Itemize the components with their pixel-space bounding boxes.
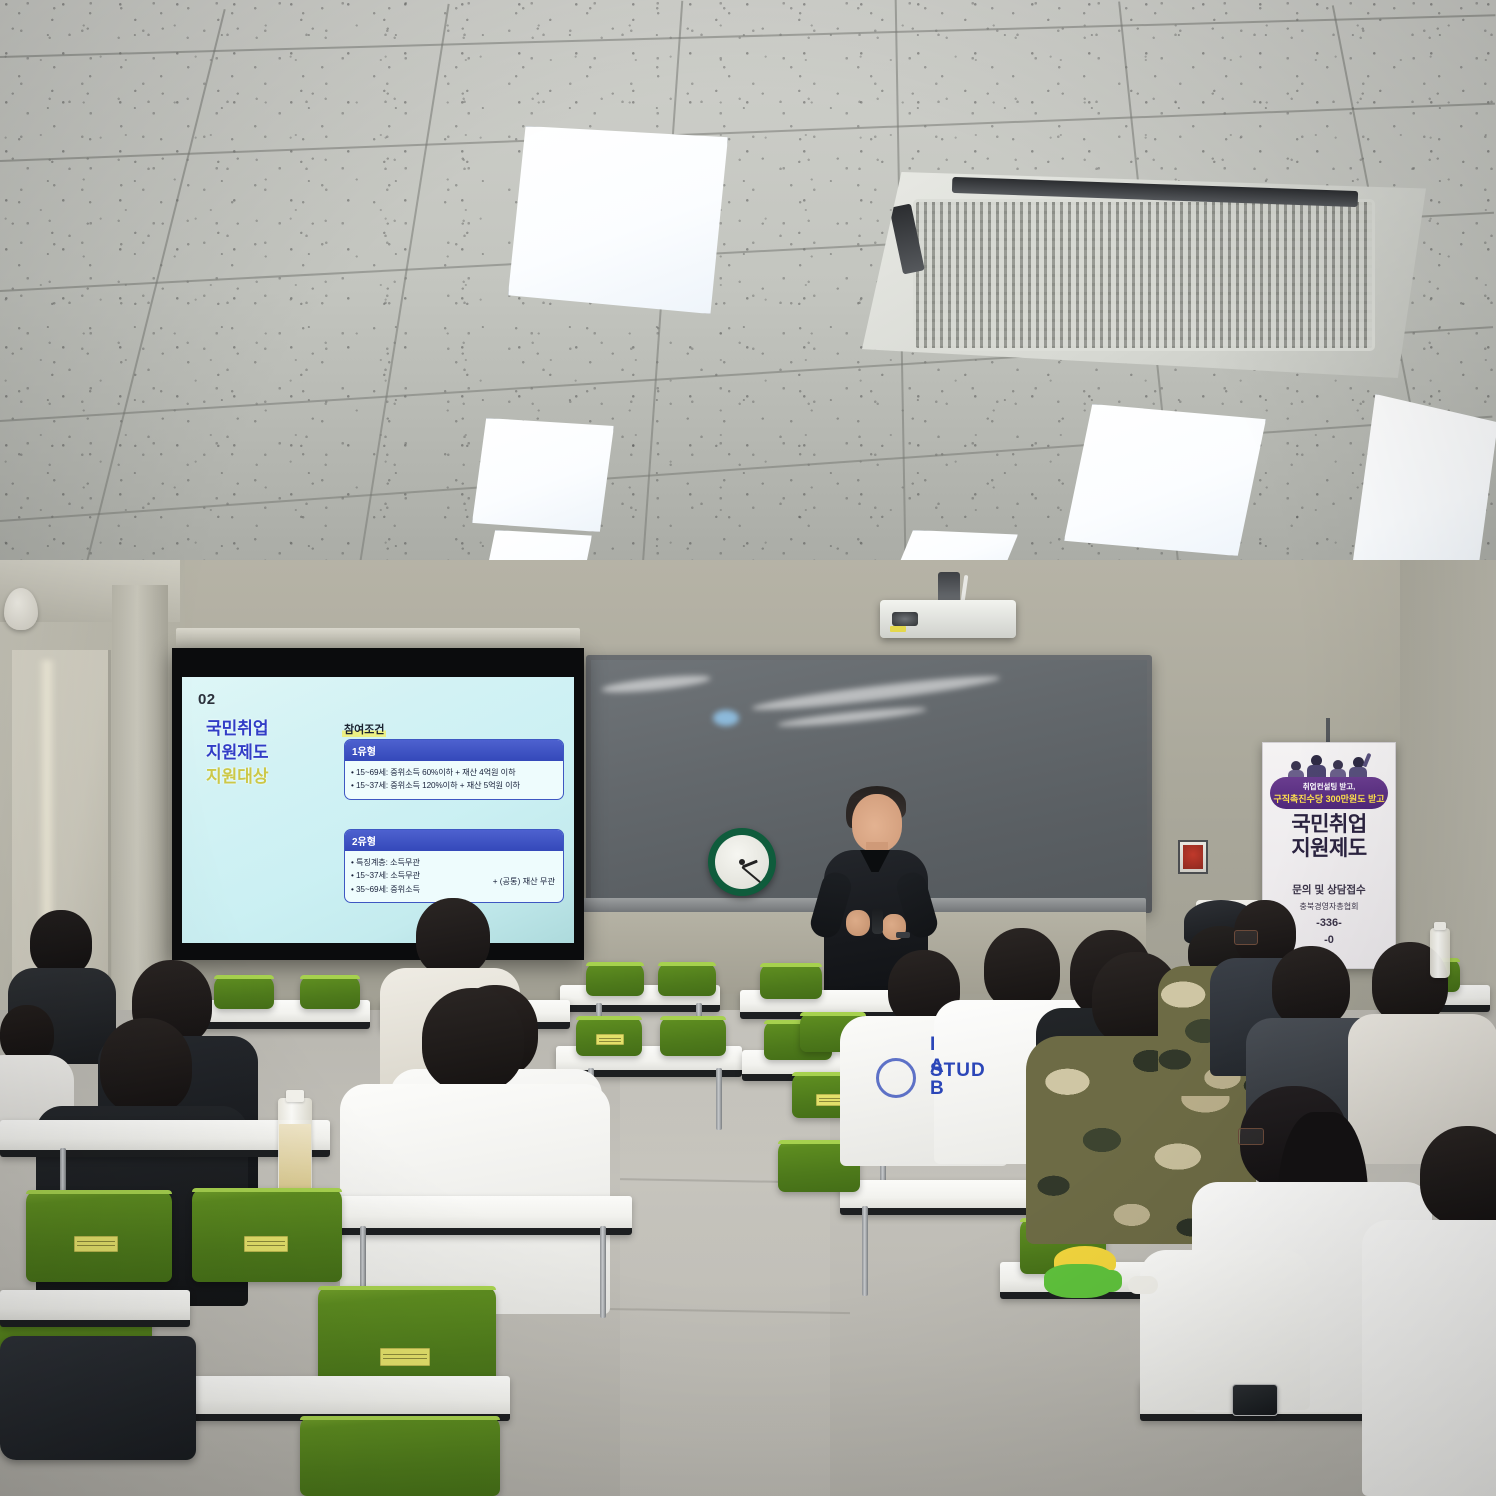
asset-tag-line xyxy=(77,1245,115,1246)
banner-main-line1: 국민취업 xyxy=(1263,813,1395,837)
chair xyxy=(658,962,716,996)
microphone-icon xyxy=(872,908,883,934)
desk-leg xyxy=(716,1068,722,1130)
slide-type2-header: 2유형 xyxy=(345,830,563,851)
smartphone xyxy=(1232,1384,1278,1416)
bottle-label xyxy=(279,1124,311,1190)
presenter-left-hand xyxy=(846,910,870,936)
banner-pill-line2: 구직촉진수당 300만원도 받고 xyxy=(1270,793,1388,806)
clock-face xyxy=(715,835,769,889)
person-head xyxy=(984,928,1060,1010)
desk xyxy=(0,1290,190,1327)
slide-number: 02 xyxy=(198,691,216,708)
slide-type1-box: 1유형 15~69세: 중위소득 60%이하 + 재산 4억원 이하 15~37… xyxy=(344,739,564,800)
drink-bottle xyxy=(278,1098,312,1202)
ceiling-light-panel xyxy=(1064,404,1266,556)
drink-bottle xyxy=(1430,928,1450,978)
chair xyxy=(300,1416,500,1496)
slide-type1-header: 1유형 xyxy=(345,740,563,761)
fire-emergency-sign-icon xyxy=(1178,840,1208,874)
board-chalk-smear xyxy=(777,704,927,730)
chair xyxy=(214,975,274,1009)
ceiling-light-panel xyxy=(472,418,614,532)
plush-toy-green-arm xyxy=(1096,1270,1122,1292)
slide-type2-box: 2유형 특징계층: 소득무관 15~37세: 소득무관 35~69세: 중위소득… xyxy=(344,829,564,903)
projection-screen-housing xyxy=(176,628,580,650)
backpack xyxy=(0,1336,196,1460)
banner-highlight-pill: 취업컨설팅 받고, 구직촉진수당 300만원도 받고 xyxy=(1270,777,1388,809)
classroom-photo: 02 국민취업 지원제도 지원대상 참여조건 1유형 15~69세: 중위소득 … xyxy=(0,0,1496,1496)
person-head xyxy=(1420,1126,1496,1226)
desk xyxy=(180,1376,510,1421)
clock-center-pin xyxy=(739,859,745,865)
banner-main-line2: 지원제도 xyxy=(1263,837,1395,861)
person-torso xyxy=(1140,1250,1310,1410)
shirt-logo-circle xyxy=(876,1058,916,1098)
ceiling xyxy=(0,0,1496,640)
banner-people-illustration xyxy=(1285,751,1373,777)
chair xyxy=(26,1190,172,1282)
asset-tag-line xyxy=(383,1354,427,1355)
asset-tag xyxy=(74,1236,118,1252)
projection-screen: 02 국민취업 지원제도 지원대상 참여조건 1유형 15~69세: 중위소득 … xyxy=(172,648,584,960)
board-reflection-spot xyxy=(713,710,739,726)
slide-title: 국민취업 지원제도 지원대상 xyxy=(206,717,316,789)
chair xyxy=(300,975,360,1009)
banner-main-title: 국민취업 지원제도 xyxy=(1263,813,1395,860)
projector-label xyxy=(890,626,906,632)
slide-type2-line: 특징계층: 소득무관 xyxy=(351,856,557,869)
asset-tag-line xyxy=(599,1041,621,1042)
person-head xyxy=(416,898,490,976)
slide-bullet-heading: 참여조건 xyxy=(342,721,386,737)
slide-type2-side-note: + (공통) 재산 무관 xyxy=(493,875,555,887)
asset-tag-line xyxy=(599,1038,621,1039)
desk-leg xyxy=(862,1206,868,1296)
asset-tag-line xyxy=(247,1245,285,1246)
slide-title-line2: 지원제도 xyxy=(206,741,316,765)
slide-title-line1: 국민취업 xyxy=(206,717,316,741)
chair xyxy=(760,963,822,999)
desk-small-item xyxy=(1128,1276,1158,1294)
banner-pill-line1: 취업컨설팅 받고, xyxy=(1270,777,1388,793)
board-chalk-smear xyxy=(601,672,712,695)
person-head xyxy=(30,910,92,976)
ceiling-projector xyxy=(880,600,1016,638)
person-head xyxy=(1272,946,1350,1028)
board-chalk-smear xyxy=(751,671,1001,715)
fire-sign-graphic xyxy=(1183,845,1203,869)
slide-type1-line: 15~37세: 중위소득 120%이하 + 재산 5억원 이하 xyxy=(351,779,557,792)
chair xyxy=(660,1016,726,1056)
chair xyxy=(586,962,644,996)
projector-lens-icon xyxy=(892,612,918,626)
slide-type2-body: 특징계층: 소득무관 15~37세: 소득무관 35~69세: 중위소득 + (… xyxy=(345,851,563,902)
person-head xyxy=(422,988,524,1092)
left-column xyxy=(112,585,168,1015)
chair xyxy=(576,1016,642,1056)
presentation-slide: 02 국민취업 지원제도 지원대상 참여조건 1유형 15~69세: 중위소득 … xyxy=(182,677,574,943)
asset-tag xyxy=(244,1236,288,1252)
asset-tag-line xyxy=(247,1241,285,1242)
asset-tag xyxy=(596,1034,624,1045)
person-torso xyxy=(1362,1220,1496,1496)
bottle-cap xyxy=(286,1090,304,1102)
banner-raised-arm xyxy=(1363,753,1372,767)
eyeglasses-icon xyxy=(1238,1128,1264,1145)
slide-title-line3: 지원대상 xyxy=(206,765,316,789)
wall-clock xyxy=(708,828,776,896)
asset-tag-line xyxy=(383,1358,427,1359)
eyeglasses-icon xyxy=(1234,930,1258,945)
ceiling-light-panel xyxy=(508,126,728,314)
chair xyxy=(192,1188,342,1282)
plush-toy xyxy=(1040,1246,1124,1298)
clock-minute-hand xyxy=(741,866,761,883)
banner-subtitle: 문의 및 상담접수 xyxy=(1263,883,1395,898)
person-head xyxy=(100,1018,192,1114)
presenter-wristwatch xyxy=(896,932,910,938)
bottle-cap xyxy=(1434,922,1446,930)
asset-tag xyxy=(380,1348,430,1366)
slide-type1-body: 15~69세: 중위소득 60%이하 + 재산 4억원 이하 15~37세: 중… xyxy=(345,761,563,799)
slide-type1-line: 15~69세: 중위소득 60%이하 + 재산 4억원 이하 xyxy=(351,766,557,779)
wall-speaker-icon xyxy=(4,588,38,630)
desk xyxy=(332,1196,632,1235)
asset-tag-line xyxy=(77,1241,115,1242)
air-conditioner-unit xyxy=(862,172,1426,378)
desk-leg xyxy=(600,1226,606,1318)
air-conditioner-grille xyxy=(913,199,1376,351)
